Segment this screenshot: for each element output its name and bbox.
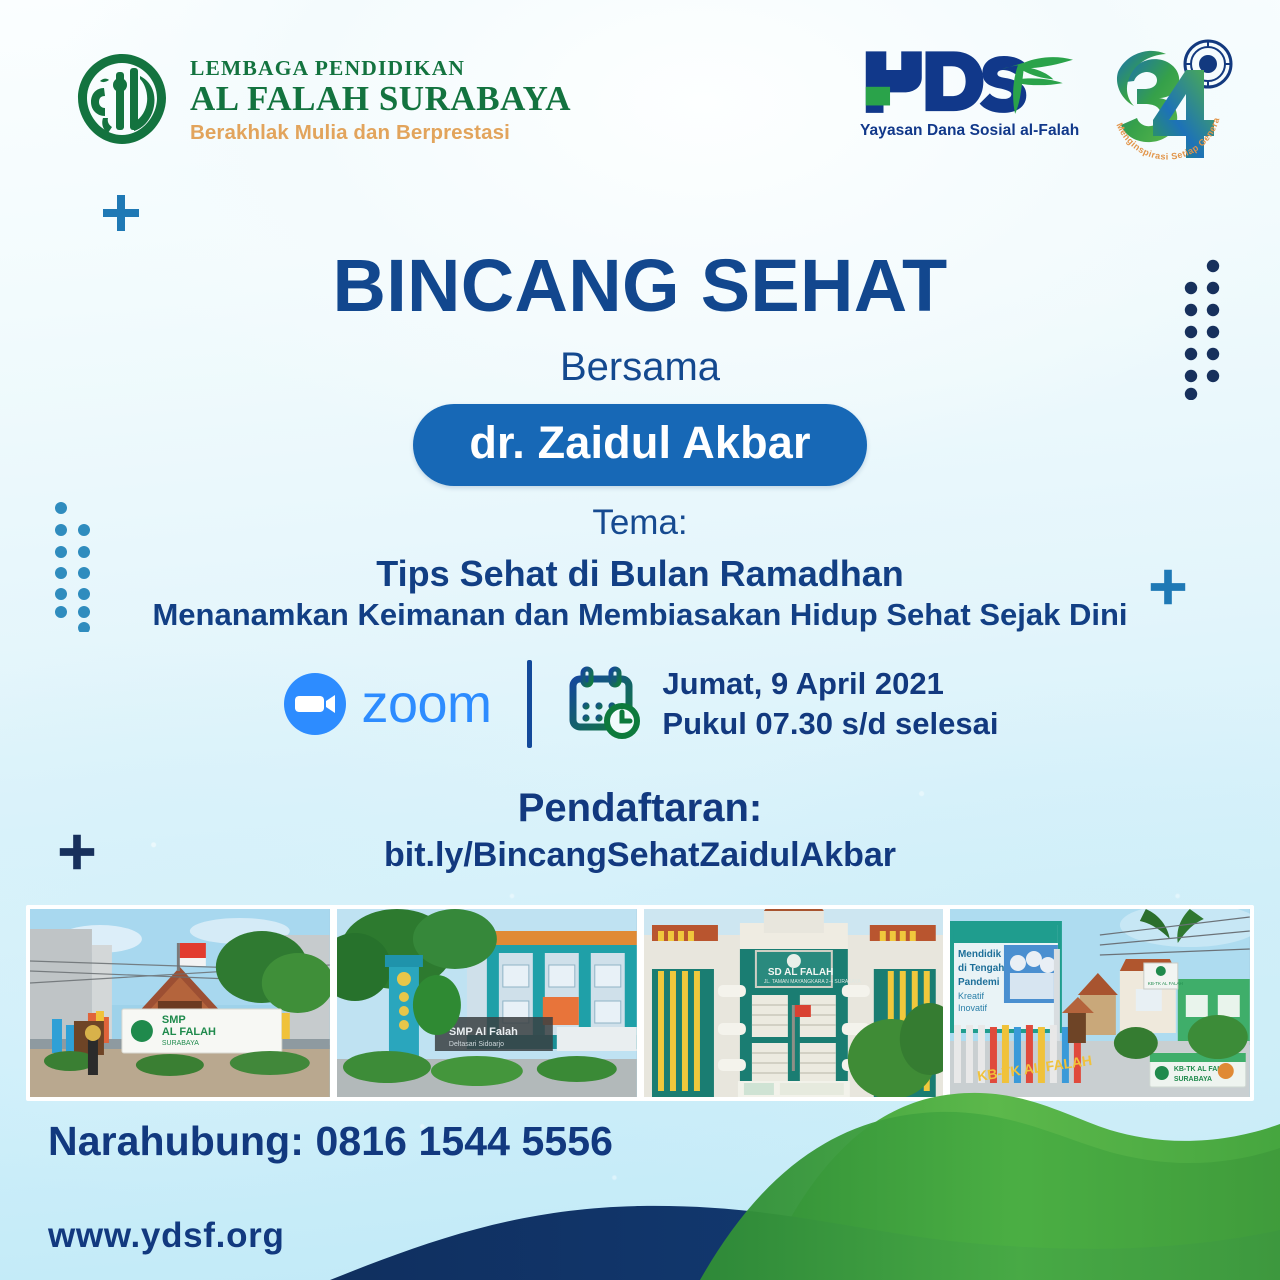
bersama-label: Bersama [0, 345, 1280, 390]
ydsf-subtitle: Yayasan Dana Sosial al-Falah [860, 122, 1075, 140]
svg-text:Inovatif: Inovatif [958, 1003, 987, 1013]
svg-text:SURABAYA: SURABAYA [162, 1040, 199, 1047]
event-datetime: Jumat, 9 April 2021 Pukul 07.30 s/d sele… [568, 664, 998, 743]
svg-text:di Tengah: di Tengah [958, 963, 1004, 974]
anniversary-34-ribbon-icon: Menginspirasi Setiap Generasi [1092, 30, 1242, 180]
al-falah-logo: LEMBAGA PENDIDIKAN AL FALAH SURABAYA Ber… [70, 48, 571, 152]
registration-label: Pendaftaran: [0, 786, 1280, 831]
zoom-platform: zoom [282, 671, 492, 737]
meta-divider [527, 660, 532, 748]
photo-smp-al-falah-surabaya: SMP AL FALAH SURABAYA [30, 909, 330, 1097]
event-time: Pukul 07.30 s/d selesai [662, 704, 998, 744]
bottom-wave-decoration [0, 1090, 1280, 1280]
ydsf-logo: Yayasan Dana Sosial al-Falah [860, 42, 1075, 140]
al-falah-calligraphy-icon [70, 48, 174, 152]
photo-strip: SMP AL FALAH SURABAYA [26, 905, 1254, 1101]
speaker-badge-wrap: dr. Zaidul Akbar [0, 404, 1280, 486]
svg-text:SURABAYA: SURABAYA [1174, 1076, 1212, 1083]
svg-text:SMP Al Falah: SMP Al Falah [449, 1026, 518, 1038]
ydsf-wordmark-icon [860, 42, 1075, 126]
svg-text:Mendidik: Mendidik [958, 949, 1002, 960]
zoom-camera-icon [282, 671, 348, 737]
svg-text:Deltasari Sidoarjo: Deltasari Sidoarjo [449, 1041, 504, 1048]
event-meta-row: zoom [0, 660, 1280, 748]
al-falah-line2: AL FALAH SURABAYA [190, 80, 571, 117]
speaker-name-badge: dr. Zaidul Akbar [413, 404, 866, 486]
photo-sd-al-falah: SD AL FALAH JL. TAMAN MAYANGKARA 2-4 SUR… [644, 909, 944, 1097]
event-date: Jumat, 9 April 2021 [662, 664, 998, 704]
poster-header: LEMBAGA PENDIDIKAN AL FALAH SURABAYA Ber… [0, 0, 1280, 190]
plus-icon [98, 190, 144, 241]
photo-smp-al-falah-deltasari: SMP Al Falah Deltasari Sidoarjo [337, 909, 637, 1097]
al-falah-tagline: Berakhlak Mulia dan Berprestasi [190, 122, 571, 144]
theme-sub-text: Menanamkan Keimanan dan Membiasakan Hidu… [0, 597, 1280, 633]
svg-text:Pandemi: Pandemi [958, 977, 1000, 988]
registration-link[interactable]: bit.ly/BincangSehatZaidulAkbar [0, 836, 1280, 875]
zoom-wordmark: zoom [362, 673, 492, 735]
svg-text:SMP: SMP [162, 1014, 186, 1026]
svg-text:JL. TAMAN MAYANGKARA 2-4 SURAB: JL. TAMAN MAYANGKARA 2-4 SURABAYA [763, 979, 861, 985]
svg-text:SD AL FALAH: SD AL FALAH [767, 967, 832, 978]
svg-text:AL FALAH: AL FALAH [162, 1026, 216, 1038]
svg-text:Kreatif: Kreatif [958, 991, 984, 1001]
svg-text:KB-TK AL FALAH: KB-TK AL FALAH [1148, 981, 1183, 986]
theme-main-text: Tips Sehat di Bulan Ramadhan [0, 553, 1280, 595]
calendar-clock-icon [568, 666, 644, 742]
poster-canvas: LEMBAGA PENDIDIKAN AL FALAH SURABAYA Ber… [0, 0, 1280, 1280]
tema-label: Tema: [0, 503, 1280, 543]
al-falah-line1: LEMBAGA PENDIDIKAN [190, 57, 571, 80]
photo-kb-tk-al-falah-surabaya: Mendidik di Tengah Pandemi Kreatif Inova… [950, 909, 1250, 1097]
page-title: BINCANG SEHAT [0, 243, 1280, 328]
